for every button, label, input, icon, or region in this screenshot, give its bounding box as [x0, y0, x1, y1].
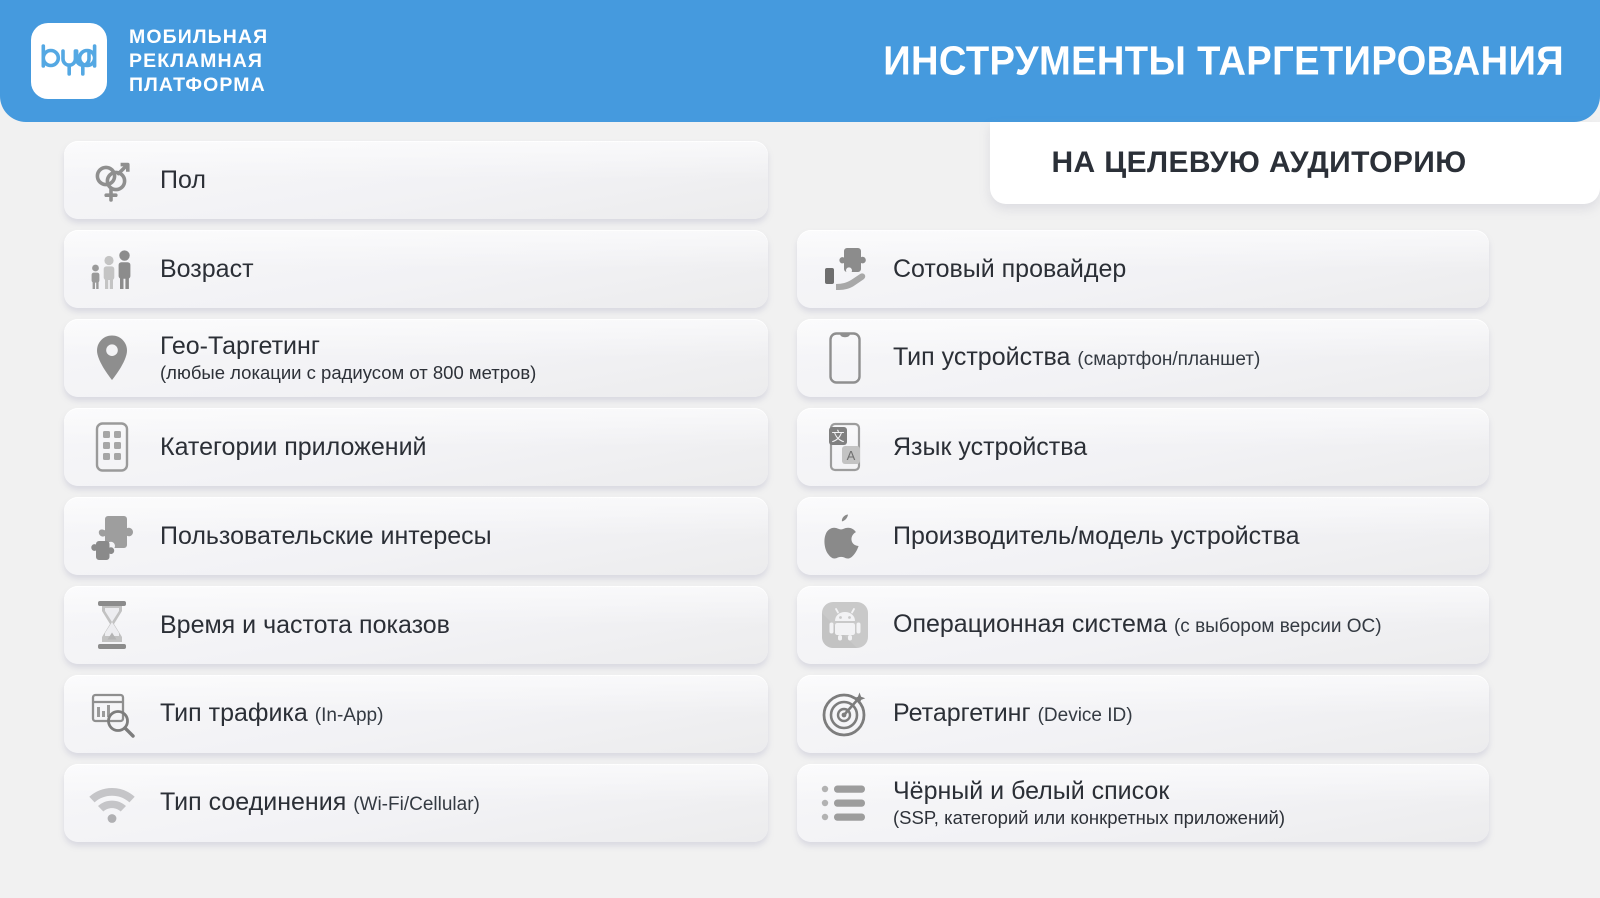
- map-pin-icon: [64, 333, 160, 383]
- card-title: Чёрный и белый список: [893, 776, 1285, 806]
- right-column: Сотовый провайдерТип устройства (смартфо…: [797, 230, 1489, 853]
- list-icon: [797, 783, 893, 823]
- card-subtitle: (SSP, категорий или конкретных приложени…: [893, 806, 1285, 830]
- android-os-icon: [797, 601, 893, 649]
- card-title-text: Пользовательские интересы: [160, 522, 492, 550]
- targeting-card[interactable]: Тип соединения (Wi-Fi/Cellular): [64, 764, 768, 842]
- card-title-text: Язык устройства: [893, 433, 1087, 461]
- card-title-text: Категории приложений: [160, 433, 427, 461]
- targeting-card[interactable]: Категории приложений: [64, 408, 768, 486]
- targeting-card[interactable]: Пользовательские интересы: [64, 497, 768, 575]
- targeting-card[interactable]: Чёрный и белый список(SSP, категорий или…: [797, 764, 1489, 842]
- card-title: Время и частота показов: [160, 610, 450, 640]
- smartphone-icon: [797, 331, 893, 385]
- card-title-text: Производитель/модель устройства: [893, 522, 1299, 550]
- card-title: Операционная система (с выбором версии О…: [893, 609, 1382, 642]
- card-text-block: Ретаргетинг (Device ID): [893, 698, 1147, 731]
- card-title-text: Тип соединения: [160, 788, 346, 816]
- card-title-text: Гео-Таргетинг: [160, 332, 320, 360]
- age-people-icon: [64, 246, 160, 292]
- page-title: ИНСТРУМЕНТЫ ТАРГЕТИРОВАНИЯ: [0, 38, 1564, 85]
- card-title-text: Операционная система: [893, 610, 1167, 638]
- targeting-card[interactable]: Пол: [64, 141, 768, 219]
- targeting-card[interactable]: 文AЯзык устройства: [797, 408, 1489, 486]
- card-text-block: Тип трафика (In-App): [160, 698, 397, 731]
- slide-root: МОБИЛЬНАЯ РЕКЛАМНАЯ ПЛАТФОРМА ИНСТРУМЕНТ…: [0, 0, 1600, 898]
- card-title-text: Пол: [160, 166, 206, 194]
- targeting-card[interactable]: Гео-Таргетинг(любые локации с радиусом о…: [64, 319, 768, 397]
- card-title-text: Возраст: [160, 255, 254, 283]
- card-text-block: Чёрный и белый список(SSP, категорий или…: [893, 776, 1299, 830]
- card-text-block: Категории приложений: [160, 432, 441, 462]
- target-icon: [797, 689, 893, 739]
- translate-icon: 文A: [797, 421, 893, 473]
- targeting-card[interactable]: Тип устройства (смартфон/планшет): [797, 319, 1489, 397]
- card-text-block: Сотовый провайдер: [893, 254, 1140, 284]
- puzzle-piece-icon: [64, 512, 160, 560]
- card-title-qualifier: (Wi-Fi/Cellular): [353, 794, 480, 815]
- targeting-card[interactable]: Тип трафика (In-App): [64, 675, 768, 753]
- card-title: Гео-Таргетинг: [160, 331, 536, 361]
- card-title-qualifier: (Device ID): [1038, 705, 1133, 726]
- subtitle-card: НА ЦЕЛЕВУЮ АУДИТОРИЮ: [990, 122, 1600, 204]
- subtitle-text: НА ЦЕЛЕВУЮ АУДИТОРИЮ: [1051, 146, 1466, 180]
- card-title: Язык устройства: [893, 432, 1087, 462]
- card-title: Пол: [160, 165, 206, 195]
- card-title-text: Сотовый провайдер: [893, 255, 1126, 283]
- card-title: Возраст: [160, 254, 254, 284]
- targeting-card[interactable]: Ретаргетинг (Device ID): [797, 675, 1489, 753]
- targeting-card[interactable]: Время и частота показов: [64, 586, 768, 664]
- card-text-block: Тип соединения (Wi-Fi/Cellular): [160, 787, 494, 820]
- card-title: Сотовый провайдер: [893, 254, 1126, 284]
- targeting-card[interactable]: Производитель/модель устройства: [797, 497, 1489, 575]
- card-text-block: Пол: [160, 165, 220, 195]
- svg-text:A: A: [847, 448, 856, 463]
- card-text-block: Время и частота показов: [160, 610, 464, 640]
- header-bar: МОБИЛЬНАЯ РЕКЛАМНАЯ ПЛАТФОРМА ИНСТРУМЕНТ…: [0, 0, 1600, 122]
- card-text-block: Тип устройства (смартфон/планшет): [893, 342, 1274, 375]
- left-column: ПолВозрастГео-Таргетинг(любые локации с …: [64, 141, 768, 853]
- traffic-search-icon: [64, 690, 160, 738]
- card-title-text: Ретаргетинг: [893, 699, 1031, 727]
- card-text-block: Язык устройства: [893, 432, 1101, 462]
- card-title-text: Тип трафика: [160, 699, 308, 727]
- card-title-qualifier: (In-App): [315, 705, 384, 726]
- card-text-block: Производитель/модель устройства: [893, 521, 1313, 551]
- targeting-card[interactable]: Возраст: [64, 230, 768, 308]
- card-title: Категории приложений: [160, 432, 427, 462]
- card-title: Тип трафика (In-App): [160, 698, 383, 731]
- card-title-qualifier: (с выбором версии ОС): [1174, 616, 1382, 637]
- card-title: Тип устройства (смартфон/планшет): [893, 342, 1260, 375]
- card-text-block: Операционная система (с выбором версии О…: [893, 609, 1396, 642]
- card-title-text: Чёрный и белый список: [893, 777, 1169, 805]
- sim-hand-icon: [797, 246, 893, 292]
- card-title-text: Время и частота показов: [160, 611, 450, 639]
- targeting-card[interactable]: Операционная система (с выбором версии О…: [797, 586, 1489, 664]
- card-title-text: Тип устройства: [893, 343, 1070, 371]
- card-text-block: Возраст: [160, 254, 268, 284]
- wifi-icon: [64, 782, 160, 824]
- card-title: Производитель/модель устройства: [893, 521, 1299, 551]
- card-text-block: Гео-Таргетинг(любые локации с радиусом о…: [160, 331, 550, 385]
- card-text-block: Пользовательские интересы: [160, 521, 506, 551]
- hourglass-icon: [64, 599, 160, 651]
- card-subtitle: (любые локации с радиусом от 800 метров): [160, 361, 536, 385]
- app-grid-phone-icon: [64, 421, 160, 473]
- card-title-qualifier: (смартфон/планшет): [1077, 349, 1260, 370]
- gender-icon: [64, 155, 160, 205]
- apple-icon: [797, 511, 893, 561]
- card-title: Пользовательские интересы: [160, 521, 492, 551]
- card-title: Ретаргетинг (Device ID): [893, 698, 1133, 731]
- card-title: Тип соединения (Wi-Fi/Cellular): [160, 787, 480, 820]
- svg-text:文: 文: [831, 429, 844, 444]
- targeting-card[interactable]: Сотовый провайдер: [797, 230, 1489, 308]
